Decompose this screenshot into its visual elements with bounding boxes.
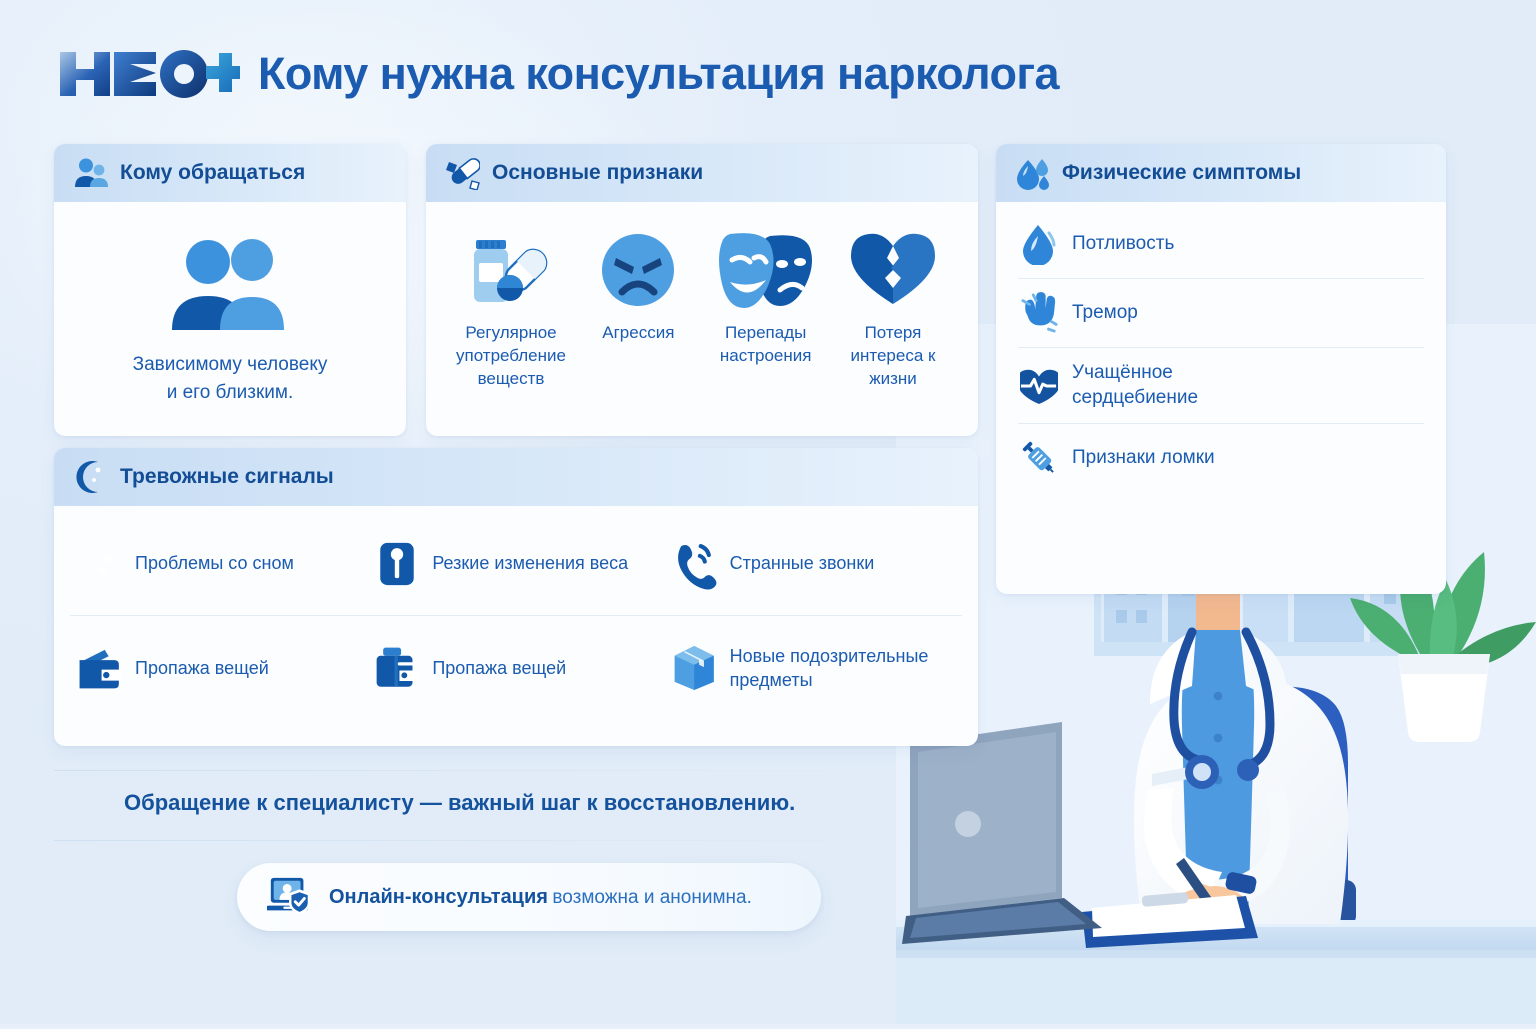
sign-label: Регулярное употребление веществ [450, 322, 572, 391]
water-drops-icon [1016, 156, 1050, 190]
wallet-icon [78, 642, 122, 694]
sign-item: Потеря интереса к жизни [832, 226, 954, 391]
alarm-label: Странные звонки [730, 551, 875, 575]
symptom-row: Учащённое сердцебиение [1018, 348, 1424, 424]
symptom-row: Признаки ломки [1018, 424, 1424, 492]
symptom-row: Потливость [1018, 210, 1424, 279]
trembling-hand-icon [1020, 292, 1058, 334]
card-title: Основные признаки [492, 161, 703, 185]
card-header: Основные признаки [426, 144, 978, 202]
package-box-icon [673, 639, 717, 697]
alarm-item: Пропажа вещей [367, 616, 664, 720]
symptom-label: Тремор [1072, 301, 1138, 326]
badge-text-bold: Онлайн-консультация [329, 886, 548, 908]
sign-item: Регулярное употребление веществ [450, 226, 572, 391]
moon-stars-icon [78, 536, 122, 592]
card-header: Физические симптомы [996, 144, 1446, 202]
alarm-item: Резкие изменения веса [367, 512, 664, 616]
card-body: Проблемы со сном Резкие изменения веса [54, 506, 978, 728]
weight-scale-icon [375, 536, 419, 592]
symptom-label: Потливость [1072, 232, 1174, 257]
footer-tagline: Обращение к специалисту — важный шаг к в… [124, 790, 795, 816]
footer-divider-top [54, 770, 920, 771]
brand-logo [54, 46, 240, 102]
sign-label: Агрессия [602, 322, 674, 345]
badge-text: Онлайн-консультация возможна и анонимна. [329, 886, 752, 909]
card-header: Тревожные сигналы [54, 448, 978, 506]
alarm-item: Странные звонки [665, 512, 962, 616]
body-line-2: и его близким. [133, 379, 328, 407]
two-people-large-icon [164, 234, 296, 335]
sign-label: Потеря интереса к жизни [832, 322, 954, 391]
card-body: Регулярное употребление веществ Агрессия [426, 202, 978, 407]
heart-pulse-icon [1020, 366, 1058, 406]
card-alarm-signals: Тревожные сигналы Проблемы со сном [54, 448, 978, 746]
syringe-icon [1020, 437, 1058, 479]
symptom-row: Тремор [1018, 279, 1424, 348]
angry-face-icon [598, 226, 678, 314]
alarm-label: Новые подозрительные предметы [730, 644, 954, 693]
water-drop-icon [1020, 223, 1058, 265]
alarm-label: Пропажа вещей [135, 656, 269, 680]
sign-item: Агрессия [577, 226, 699, 345]
card-title: Тревожные сигналы [120, 465, 334, 489]
pills-icon [446, 156, 480, 190]
card-who-to-contact: Кому обращаться Зависимому человеку и ег… [54, 144, 406, 436]
theater-masks-icon [716, 226, 816, 314]
symptom-label: Учащённое сердцебиение [1072, 361, 1272, 410]
pill-bottle-icon [468, 226, 554, 314]
page-header: Кому нужна консультация нарколога [54, 38, 1059, 110]
sign-item: Перепады настроения [705, 226, 827, 368]
broken-heart-icon [851, 226, 935, 314]
footer-divider-bottom [54, 840, 920, 841]
alarm-label: Пропажа вещей [432, 656, 566, 680]
alarm-item: Пропажа вещей [70, 616, 367, 720]
card-body: Потливость Тремор Учащённое сердце [996, 202, 1446, 502]
card-title: Физические симптомы [1062, 161, 1301, 185]
card-title: Кому обращаться [120, 161, 305, 185]
bag-icon [375, 641, 419, 695]
online-consultation-icon [267, 875, 313, 919]
two-people-icon [74, 156, 108, 190]
body-line-1: Зависимому человеку [133, 351, 328, 379]
card-physical-symptoms: Физические симптомы Потливость [996, 144, 1446, 594]
card-body: Зависимому человеку и его близким. [54, 202, 406, 422]
page-title: Кому нужна консультация нарколога [258, 48, 1059, 100]
card-main-signs: Основные признаки [426, 144, 978, 436]
alarm-label: Резкие изменения веса [432, 551, 628, 575]
alarm-item: Проблемы со сном [70, 512, 367, 616]
online-consultation-badge[interactable]: Онлайн-консультация возможна и анонимна. [237, 863, 821, 931]
badge-text-regular: возможна и анонимна. [552, 887, 751, 908]
sign-label: Перепады настроения [705, 322, 827, 368]
phone-ringing-icon [673, 536, 717, 592]
alarm-item: Новые подозрительные предметы [665, 616, 962, 720]
symptom-label: Признаки ломки [1072, 446, 1215, 471]
card-body-text: Зависимому человеку и его близким. [133, 351, 328, 406]
alarm-label: Проблемы со сном [135, 551, 294, 575]
card-header: Кому обращаться [54, 144, 406, 202]
crescent-moon-icon [74, 460, 108, 494]
